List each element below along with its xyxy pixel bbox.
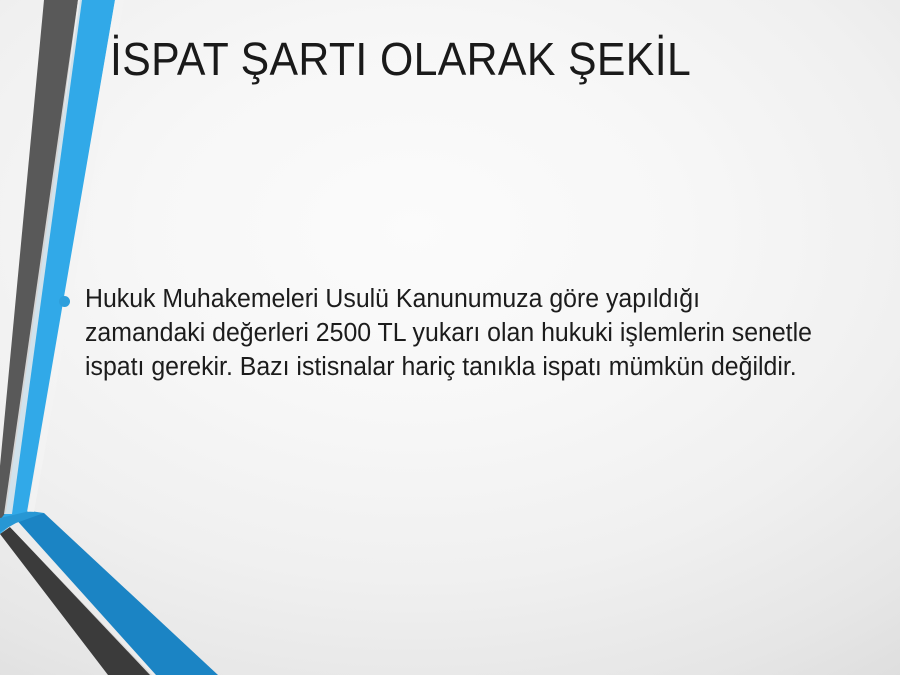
bullet-dot-icon (59, 296, 70, 307)
slide-body: Hukuk Muhakemeleri Usulü Kanunumuza göre… (54, 283, 844, 385)
stripe-blue-lower (13, 513, 218, 675)
list-item: Hukuk Muhakemeleri Usulü Kanunumuza göre… (54, 283, 844, 385)
bullet-text: Hukuk Muhakemeleri Usulü Kanunumuza göre… (85, 283, 825, 385)
stripe-gray-lower (0, 527, 152, 675)
stripe-blue-upper (0, 0, 115, 534)
slide-title: İSPAT ŞARTI OLARAK ŞEKİL (110, 34, 817, 86)
stripe-joint-wedge (0, 511, 44, 532)
stripe-gray-upper (0, 0, 78, 528)
stripe-separator-lower (10, 523, 160, 675)
slide-canvas: İSPAT ŞARTI OLARAK ŞEKİL Hukuk Muhakemel… (0, 0, 900, 675)
stripe-separator-upper (4, 0, 82, 514)
